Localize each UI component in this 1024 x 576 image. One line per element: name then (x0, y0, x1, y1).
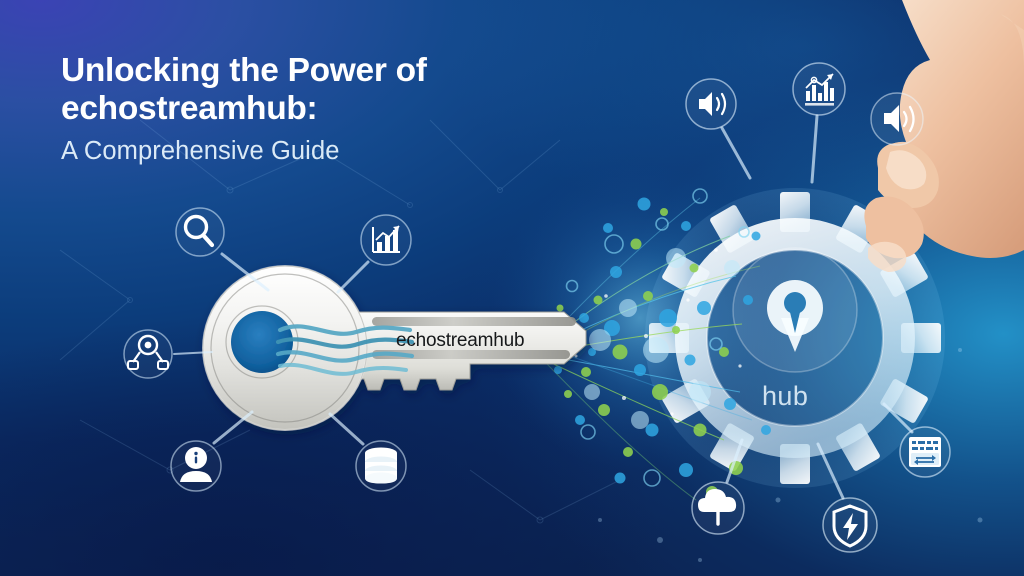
server-transfer-icon[interactable] (900, 427, 950, 477)
connector-chart (338, 262, 368, 292)
connector-database (330, 414, 363, 444)
key-shaft-label: echostreamhub (396, 330, 524, 352)
cloud-upload-icon[interactable] (692, 482, 744, 534)
gear-center-label: hub (762, 381, 808, 412)
shield-security-icon[interactable] (823, 498, 877, 552)
speaker-icon-1[interactable] (686, 79, 736, 129)
page-subtitle: A Comprehensive Guide (61, 134, 581, 168)
page-title-line-1: Unlocking the Power of (61, 52, 581, 90)
headline-block: Unlocking the Power of echostreamhub: A … (61, 52, 581, 168)
page-title-line-2: echostreamhub: (61, 90, 581, 128)
poster-canvas: Unlocking the Power of echostreamhub: A … (0, 0, 1024, 576)
user-info-icon[interactable] (171, 441, 221, 491)
database-icon[interactable] (356, 441, 406, 491)
connector-speaker1 (722, 128, 750, 178)
speaker-icon-2[interactable] (871, 93, 923, 145)
search-icon[interactable] (176, 208, 224, 256)
connector-chart2 (812, 116, 817, 182)
analytics-chart-icon[interactable] (793, 63, 845, 115)
network-node-icon[interactable] (124, 330, 172, 378)
bar-chart-icon[interactable] (361, 215, 411, 265)
key-groove-top (372, 317, 576, 326)
